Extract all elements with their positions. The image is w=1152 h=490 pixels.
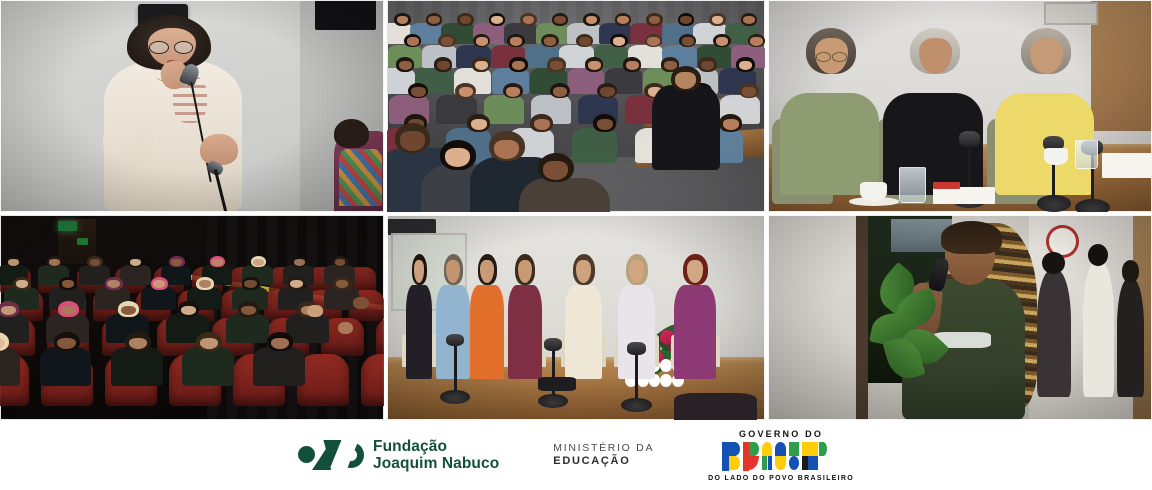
brasil-letter-l-top [808,442,818,456]
audience-member-face [506,87,520,97]
photo-bottom-center [384,212,768,420]
gov-top-label: GOVERNO DO [739,429,823,439]
foreground-person-face [400,131,425,150]
brasil-letter-s-top [775,442,786,456]
fundaj-line1: Fundação [373,438,499,455]
audience-member-face [664,61,677,70]
audience-member-face [550,61,563,70]
cinema-audience-body [0,347,20,386]
eyeglass-left [816,52,831,62]
audience-member-face [407,37,419,45]
audience-member-face [742,87,756,97]
audience-member-face [437,61,450,70]
folded-cloth [674,393,757,420]
logo-footer: Fundação Joaquim Nabuco MINISTÉRIO DA ED… [0,420,1152,490]
bg-person-1-body [1037,270,1072,397]
cinema-audience-body [226,314,268,343]
audience-member-face [588,61,601,70]
fundaj-symbol-icon [298,440,364,470]
microphone-base [1075,199,1110,212]
audience-member-face [600,87,614,97]
audience-member-face [399,61,412,70]
photo-top-right [768,0,1152,212]
brasil-letter-i-dot [789,456,799,470]
audience-member-face [750,37,762,45]
brasil-letter-a-right [768,456,773,470]
coffee-cup [1044,148,1067,165]
document-paper [933,187,994,204]
bag-on-table [538,377,576,391]
gooseneck-microphone [1037,136,1072,212]
cinema-audience-face [129,338,147,350]
standing-person-4-body [508,285,542,379]
theater-seat [376,318,384,356]
brasil-letter-b-bottom [729,456,740,470]
brasil-letter-r-bowl [749,442,759,456]
audience-member-face [475,61,488,70]
audience-member-face [471,119,487,130]
bg-person-3-body [1117,279,1144,398]
water-glass [899,167,926,203]
audience-member-face [723,119,739,130]
audience-member-face [613,37,625,45]
panelist-left-body [780,93,880,195]
white-flower [660,374,672,387]
right-seated-person-body [652,85,720,170]
photo-grid [0,0,1152,420]
distant-viewer-head [338,322,353,334]
water-glass [1075,140,1098,170]
brasil-letter-b-top [729,442,740,456]
photo-grain [0,0,384,212]
microphone-neck [454,346,457,392]
cinema-audience-body [182,347,234,386]
audience-member-face [626,61,639,70]
standing-person-5-body [565,285,603,379]
bg-person-3-head [1122,260,1140,283]
audience-member-face [441,37,453,45]
audience-member-face [411,87,425,97]
microphone-neck [635,355,638,401]
theater-seat [361,354,384,405]
distant-viewer-head [307,305,322,317]
eyeglass-right [832,52,847,62]
microphone-head [544,338,562,351]
cinema-audience-body [286,314,328,343]
photo-bottom-left [0,212,384,420]
brasil-letter-l-foot [808,456,818,470]
cinema-audience-body [40,347,92,386]
microphone-base [538,394,568,408]
brasil-wordmark-icon [722,442,840,472]
audience-member-face [647,37,659,45]
audience-member-body [572,128,617,163]
microphone-base [440,390,470,404]
standing-person-3-body [470,285,504,379]
audience-member-face [476,37,488,45]
brasil-letter-i-top [789,442,799,456]
brasil-letter-a-left [762,456,767,470]
audience-member-face [459,87,473,97]
brasil-letter-b-stem [722,442,729,471]
cinema-audience-body [120,265,151,284]
audience-member-face [739,61,752,70]
standing-person-7-body [674,285,716,379]
event-photo-banner: Fundação Joaquim Nabuco MINISTÉRIO DA ED… [0,0,1152,490]
standing-person-1-body [406,285,432,379]
gov-tagline: DO LADO DO POVO BRASILEIRO [708,475,854,482]
audience-member-face [597,119,613,130]
gooseneck-microphone [621,342,651,412]
bg-person-2-body [1083,262,1114,397]
gooseneck-microphone [440,334,470,404]
logo-fundacao-joaquim-nabuco: Fundação Joaquim Nabuco [298,438,499,473]
red-folder [933,182,960,188]
standing-person-4-face [518,260,532,283]
brasil-letter-a-top [762,442,772,456]
audience-member-face [716,37,728,45]
logo-ministerio-da-educacao: MINISTÉRIO DA EDUCAÇÃO [553,442,654,469]
brasil-letter-s-bottom [775,456,786,470]
distant-viewer-head [353,297,368,309]
mec-line1: MINISTÉRIO DA [553,442,654,455]
mec-line2: EDUCAÇÃO [553,455,654,469]
foreground-person-body [519,178,610,212]
audience-member-face [553,87,567,97]
audience-member-face [682,37,694,45]
brasil-letter-r-leg [749,456,759,470]
photo-top-left [0,0,384,212]
photo-top-center [384,0,768,212]
brasil-accent-block [819,442,827,456]
microphone-head [446,334,464,347]
coffee-cup [860,182,887,201]
microphone-base [621,398,651,412]
audience-member-face [510,37,522,45]
logo-governo-do-brasil: GOVERNO DO DO LADO DO POVO BRASILEIRO [708,429,854,482]
bg-person-2-head [1088,244,1108,267]
fundaj-line2: Joaquim Nabuco [373,455,499,472]
logo-row: Fundação Joaquim Nabuco MINISTÉRIO DA ED… [0,420,1152,490]
microphone-head [627,342,645,355]
document-paper [1102,153,1152,178]
audience-member-face [534,119,550,130]
cinema-audience-body [253,347,305,386]
photo-bottom-right [768,212,1152,420]
cinema-audience-body [111,347,163,386]
cinema-audience-body [141,287,176,310]
fundaj-wordmark: Fundação Joaquim Nabuco [373,438,499,473]
gooseneck-microphone [538,338,568,408]
microphone-base [1037,195,1072,212]
audience-member-face [579,37,591,45]
